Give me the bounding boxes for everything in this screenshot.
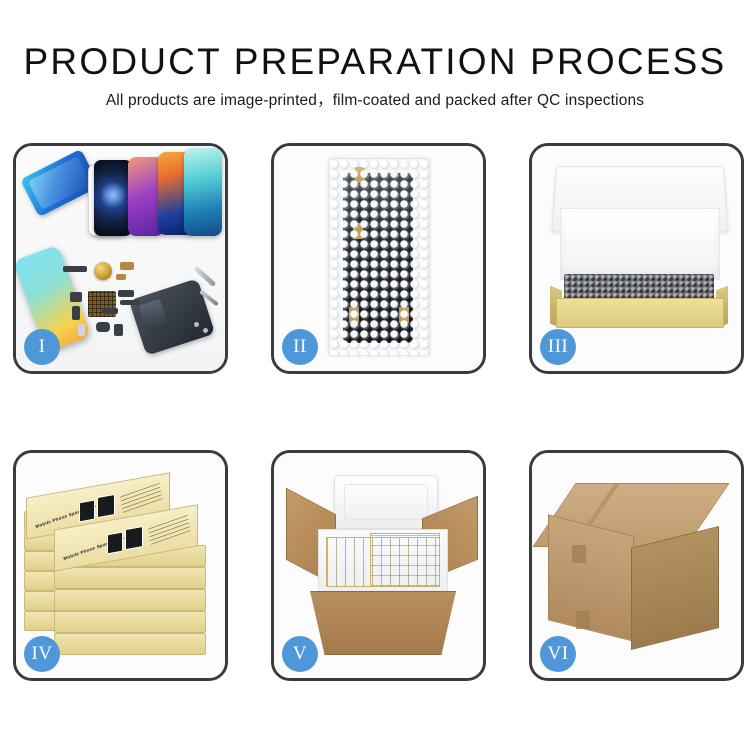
spare-part-icon (70, 292, 82, 302)
stacked-box-icon (54, 589, 206, 611)
box-front-panel-icon (556, 298, 724, 328)
step-badge-5: V (282, 636, 318, 672)
process-step-card-6[interactable]: VI (529, 450, 744, 681)
sim-tray-icon (78, 324, 85, 336)
page-title: PRODUCT PREPARATION PROCESS (0, 0, 750, 82)
page-header: PRODUCT PREPARATION PROCESS All products… (0, 0, 750, 111)
printed-spec-text (148, 512, 191, 545)
step-badge-4: IV (24, 636, 60, 672)
carton-right-face-icon (631, 526, 719, 650)
process-step-card-2[interactable]: II (271, 143, 486, 374)
spare-part-icon (63, 266, 87, 272)
stacked-box-icon (54, 611, 206, 633)
carton-tape-icon (576, 611, 590, 629)
teal-phone-icon (184, 148, 222, 236)
step-badge-3: III (540, 329, 576, 365)
printed-screen-icon (107, 532, 123, 555)
stacked-box-icon (54, 567, 206, 589)
process-step-card-3[interactable]: III (529, 143, 744, 374)
spare-part-icon (114, 324, 123, 336)
printed-screen-icon (125, 526, 143, 550)
speaker-part-icon (96, 322, 110, 332)
process-step-grid: I II III (13, 143, 740, 681)
flex-cable-icon (120, 300, 140, 305)
printed-spec-text (120, 480, 163, 513)
gold-coil-part-icon (94, 262, 112, 280)
printed-screen-icon (79, 500, 95, 523)
screw-icon (203, 328, 208, 333)
flex-cable-icon (118, 290, 134, 297)
step-badge-1: I (24, 329, 60, 365)
connector-chip-icon (116, 274, 126, 280)
stacked-box-icon (54, 633, 206, 655)
white-foam-icon (560, 208, 720, 280)
connector-chip-icon (120, 262, 134, 270)
dark-screen-phone-icon (94, 160, 132, 236)
process-step-card-1[interactable]: I (13, 143, 228, 374)
step-badge-6: VI (540, 636, 576, 672)
printed-screen-icon (97, 494, 115, 518)
screw-icon (194, 322, 199, 327)
process-step-card-4[interactable]: Mobile Phone Spare Parts Mobile Phone Sp… (13, 450, 228, 681)
packed-boxes-icon (370, 533, 440, 587)
step-badge-2: II (282, 329, 318, 365)
page-subtitle: All products are image-printed，film-coat… (0, 82, 750, 111)
spare-part-icon (102, 308, 118, 314)
carton-left-face-icon (548, 514, 634, 641)
bubble-wrap-bag-icon (328, 158, 430, 356)
spare-part-icon (72, 306, 80, 320)
process-step-card-5[interactable]: V (271, 450, 486, 681)
carton-front-panel-icon (310, 591, 456, 655)
bubble-texture (329, 159, 429, 355)
carton-tape-icon (572, 545, 586, 563)
